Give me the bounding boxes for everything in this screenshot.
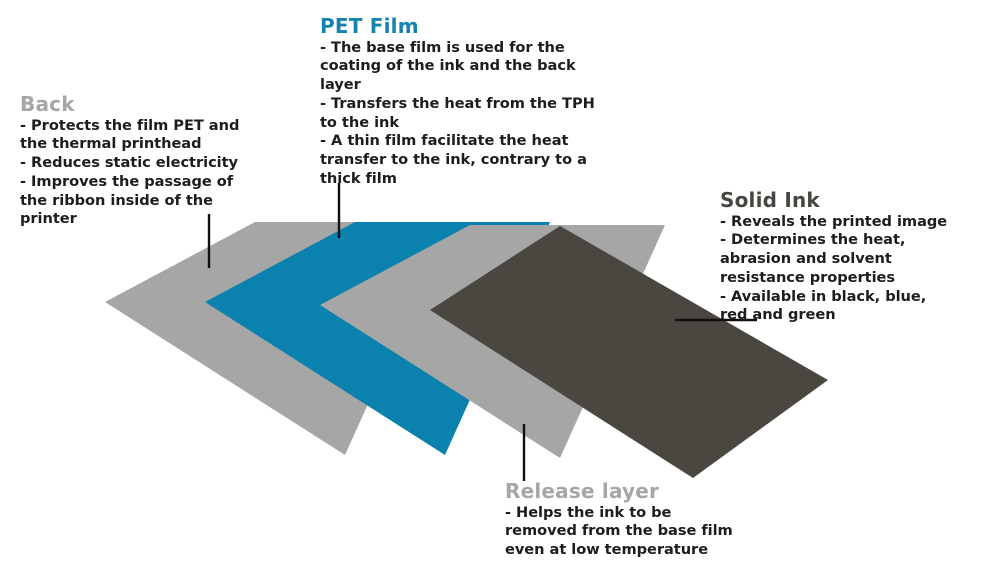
callout-line: resistance properties xyxy=(720,269,991,288)
callout-line: - Transfers the heat from the TPH xyxy=(320,95,680,114)
callout-line: coating of the ink and the back xyxy=(320,57,680,76)
callout-release-layer-title: Release layer xyxy=(505,481,805,503)
callout-line: - A thin film facilitate the heat xyxy=(320,132,680,151)
callout-solid-ink: Solid Ink - Reveals the printed image - … xyxy=(720,190,991,325)
callout-line: layer xyxy=(320,76,680,95)
callout-line: - Protects the film PET and xyxy=(20,117,320,136)
callout-line: - Determines the heat, xyxy=(720,231,991,250)
callout-line: the thermal printhead xyxy=(20,135,320,154)
callout-line: transfer to the ink, contrary to a xyxy=(320,151,680,170)
callout-back-title: Back xyxy=(20,94,320,116)
callout-line: - Improves the passage of xyxy=(20,173,320,192)
callout-back: Back - Protects the film PET and the the… xyxy=(20,94,320,229)
diagram-canvas: Back - Protects the film PET and the the… xyxy=(0,0,991,561)
callout-line: removed from the base film xyxy=(505,522,805,541)
callout-pet-film-title: PET Film xyxy=(320,16,680,38)
callout-line: - Available in black, blue, xyxy=(720,288,991,307)
callout-solid-ink-body: - Reveals the printed image - Determines… xyxy=(720,213,991,326)
callout-line: - Reveals the printed image xyxy=(720,213,991,232)
callout-pet-film-body: - The base film is used for the coating … xyxy=(320,39,680,189)
callout-line: red and green xyxy=(720,306,991,325)
callout-line: printer xyxy=(20,210,320,229)
callout-solid-ink-title: Solid Ink xyxy=(720,190,991,212)
callout-pet-film: PET Film - The base film is used for the… xyxy=(320,16,680,189)
callout-back-body: - Protects the film PET and the thermal … xyxy=(20,117,320,230)
callout-line: the ribbon inside of the xyxy=(20,192,320,211)
callout-line: - The base film is used for the xyxy=(320,39,680,58)
callout-line: to the ink xyxy=(320,114,680,133)
callout-line: abrasion and solvent xyxy=(720,250,991,269)
callout-release-layer: Release layer - Helps the ink to be remo… xyxy=(505,481,805,560)
callout-line: - Helps the ink to be xyxy=(505,504,805,523)
callout-release-layer-body: - Helps the ink to be removed from the b… xyxy=(505,504,805,560)
callout-line: - Reduces static electricity xyxy=(20,154,320,173)
callout-line: thick film xyxy=(320,170,680,189)
callout-line: even at low temperature xyxy=(505,541,805,560)
